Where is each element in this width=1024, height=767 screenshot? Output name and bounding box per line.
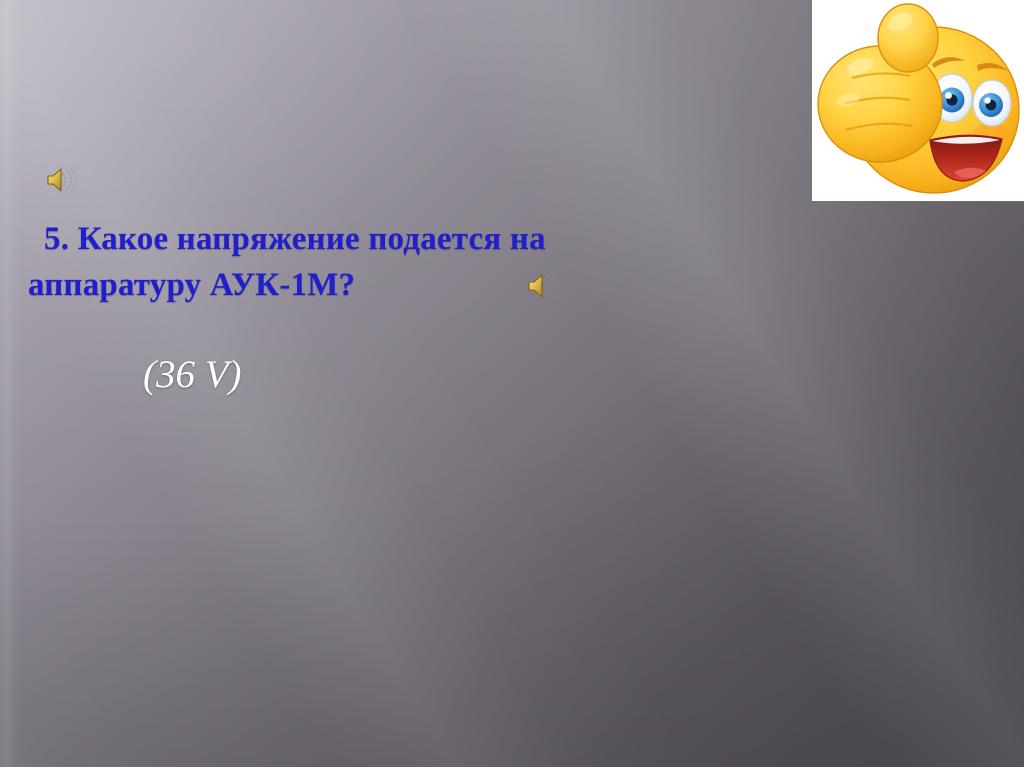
smiley-thumbs-up-image — [812, 0, 1024, 201]
slide-canvas: 5. Какое напряжение подается на аппарату… — [0, 0, 1024, 767]
question-text: 5. Какое напряжение подается на аппарату… — [28, 216, 768, 308]
question-line-2: аппаратуру АУК-1М? — [28, 262, 768, 308]
question-line-1: 5. Какое напряжение подается на — [28, 216, 768, 262]
speaker-icon[interactable] — [46, 165, 80, 195]
answer-text: (36 V) — [143, 352, 242, 398]
